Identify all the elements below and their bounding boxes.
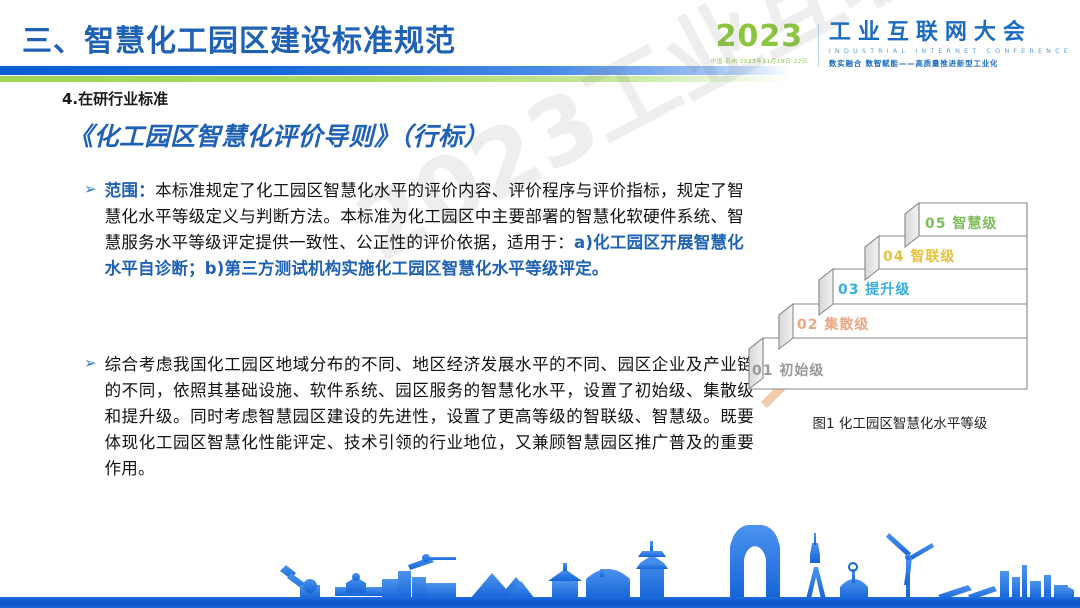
bullet-arrow-icon: ➢: [84, 352, 97, 482]
logo-name-en: INDUSTRIAL INTERNET CONFERENCE: [829, 47, 1072, 55]
logo-year-block: 2023 中国·苏州 2023年11月19日-22日: [711, 22, 818, 65]
standard-title: 《化工园区智慧化评价导则》（行标）: [68, 117, 489, 153]
bullet-arrow-icon: ➢: [84, 178, 97, 282]
section-number: 4.在研行业标准: [62, 88, 168, 109]
step-label-01: 01 初始级: [752, 360, 824, 380]
step-label-05: 05 智慧级: [925, 213, 997, 233]
header-divider-blue: [0, 66, 790, 75]
skyline-footer-graphic: [0, 513, 1080, 608]
bullet-text: 范围：本标准规定了化工园区智慧化水平的评价内容、评价程序与评价指标，规定了智慧化…: [105, 178, 744, 282]
logo-name-cn: 工业互联网大会: [829, 22, 1072, 44]
conference-logo: 2023 中国·苏州 2023年11月19日-22日 工业互联网大会 INDUS…: [711, 22, 1072, 69]
page-title: 三、智慧化工园区建设标准规范: [22, 16, 456, 60]
logo-year: 2023: [716, 22, 804, 52]
figure-caption: 图1 化工园区智慧化水平等级: [735, 412, 1065, 432]
step-label-03: 03 提升级: [838, 279, 910, 299]
header-divider-green: [0, 76, 790, 82]
logo-slogan: 数实融合 数智赋能——高质量推进新型工业化: [829, 58, 1072, 69]
bullet-item-scope: ➢ 范围：本标准规定了化工园区智慧化水平的评价内容、评价程序与评价指标，规定了智…: [84, 178, 744, 282]
step-label-02: 02 集散级: [797, 314, 869, 334]
bullet-lead: 范围：: [105, 181, 156, 200]
slide-root: 三、智慧化工园区建设标准规范 2023 中国·苏州 2023年11月19日-22…: [0, 0, 1080, 608]
logo-divider: [818, 24, 819, 67]
logo-text-block: 工业互联网大会 INDUSTRIAL INTERNET CONFERENCE 数…: [829, 22, 1072, 69]
skyline-silhouette: [280, 525, 1074, 601]
bullet-text: 综合考虑我国化工园区地域分布的不同、地区经济发展水平的不同、园区企业及产业链的不…: [105, 352, 754, 482]
step-label-04: 04 智联级: [883, 246, 955, 266]
bullet-item-levels: ➢ 综合考虑我国化工园区地域分布的不同、地区经济发展水平的不同、园区企业及产业链…: [84, 352, 754, 482]
maturity-staircase-figure: 01 初始级 02 集散级 03 提升级 04 智联级 05 智慧级 图1 化工…: [735, 190, 1065, 455]
logo-year-subtext: 中国·苏州 2023年11月19日-22日: [711, 57, 808, 65]
footer-band: [0, 597, 1080, 608]
